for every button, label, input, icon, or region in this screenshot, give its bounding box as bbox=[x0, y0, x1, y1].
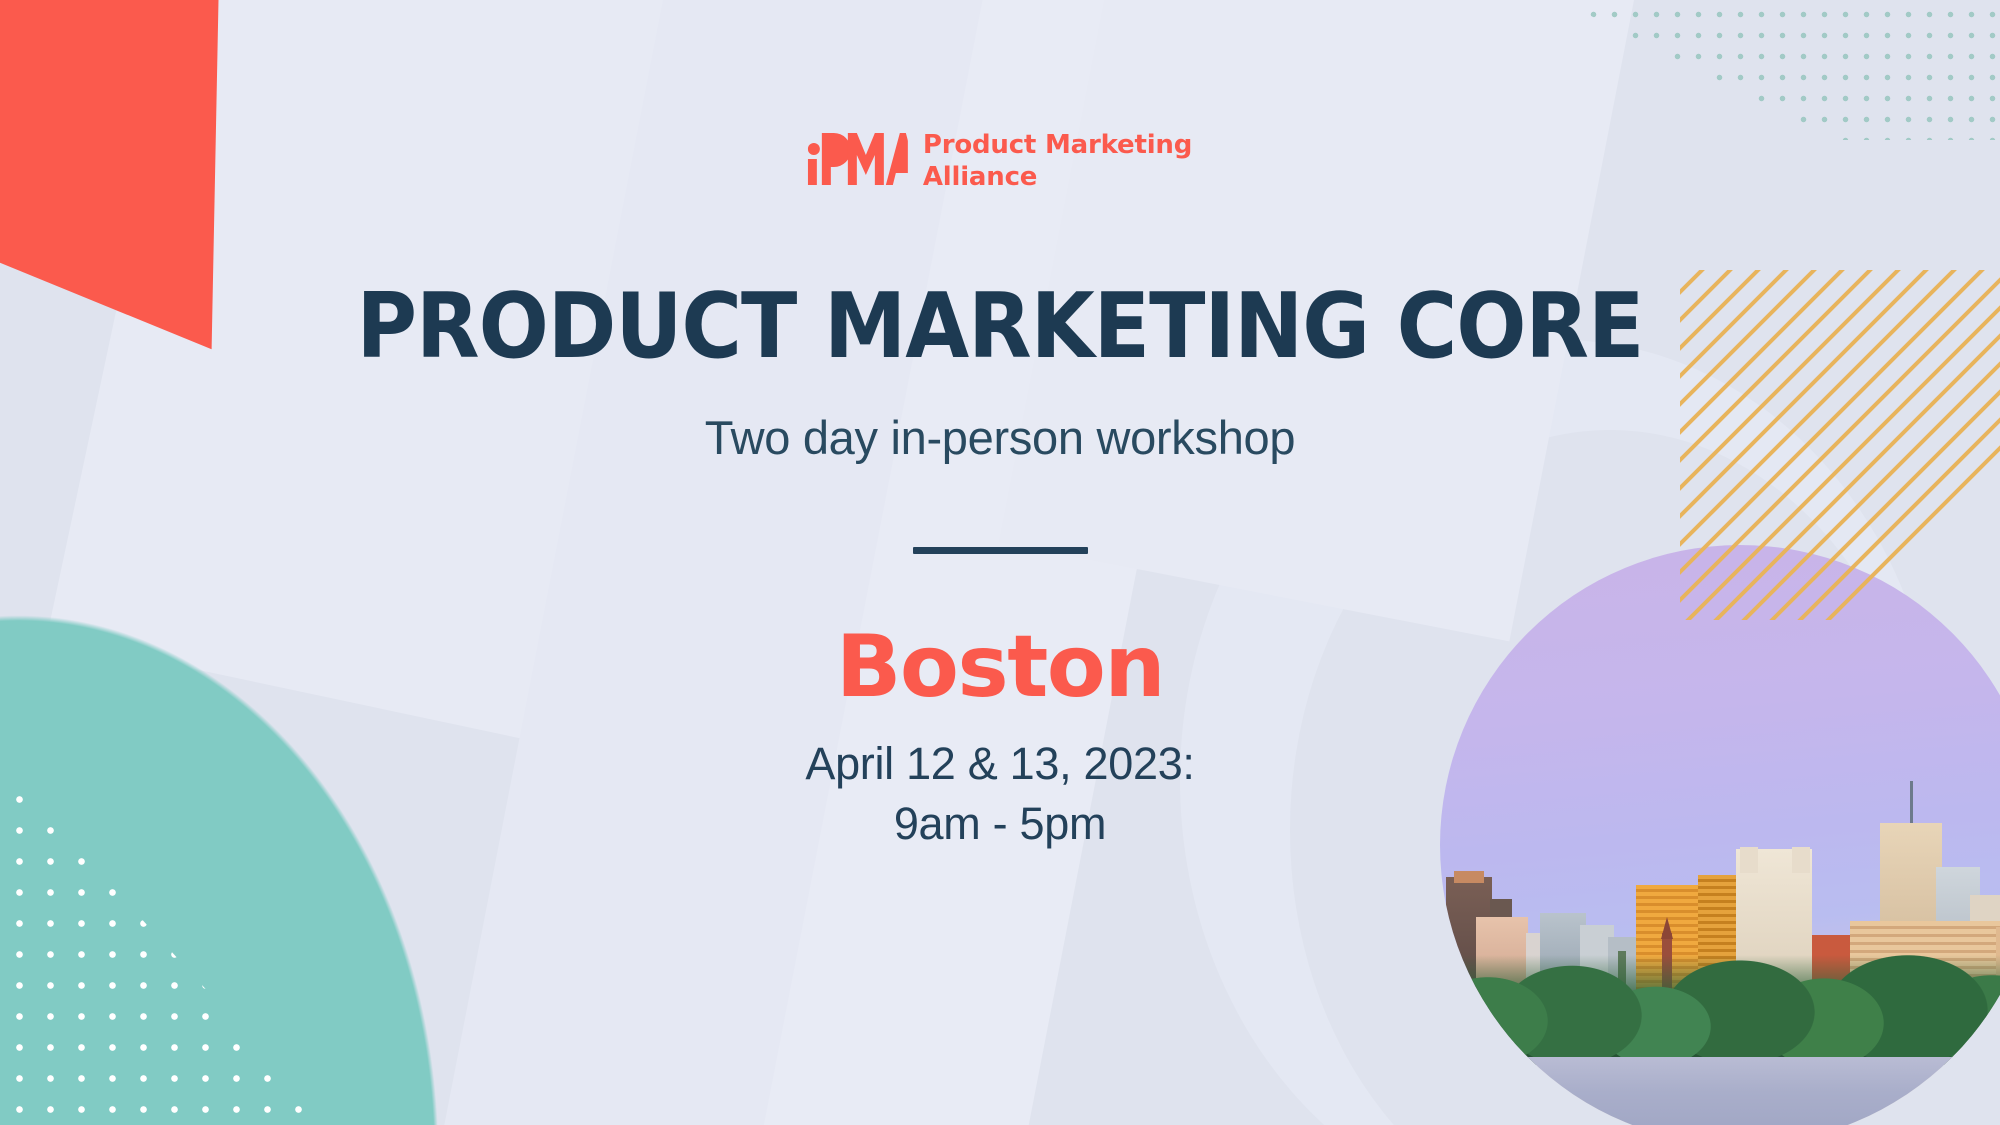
charles-river bbox=[1440, 1057, 2000, 1125]
poster-content: PRODUCT MARKETING CORE Two day in-person… bbox=[0, 0, 2000, 854]
page-title: PRODUCT MARKETING CORE bbox=[0, 282, 2000, 372]
event-date: April 12 & 13, 2023: bbox=[0, 734, 2000, 794]
event-time: 9am - 5pm bbox=[0, 794, 2000, 854]
subtitle: Two day in-person workshop bbox=[0, 410, 2000, 465]
city-name: Boston bbox=[0, 622, 2000, 712]
event-datetime: April 12 & 13, 2023: 9am - 5pm bbox=[0, 734, 2000, 854]
event-poster: Product Marketing Alliance PRODUCT MARKE… bbox=[0, 0, 2000, 1125]
divider-rule bbox=[913, 547, 1088, 554]
treeline bbox=[1440, 955, 2000, 1065]
